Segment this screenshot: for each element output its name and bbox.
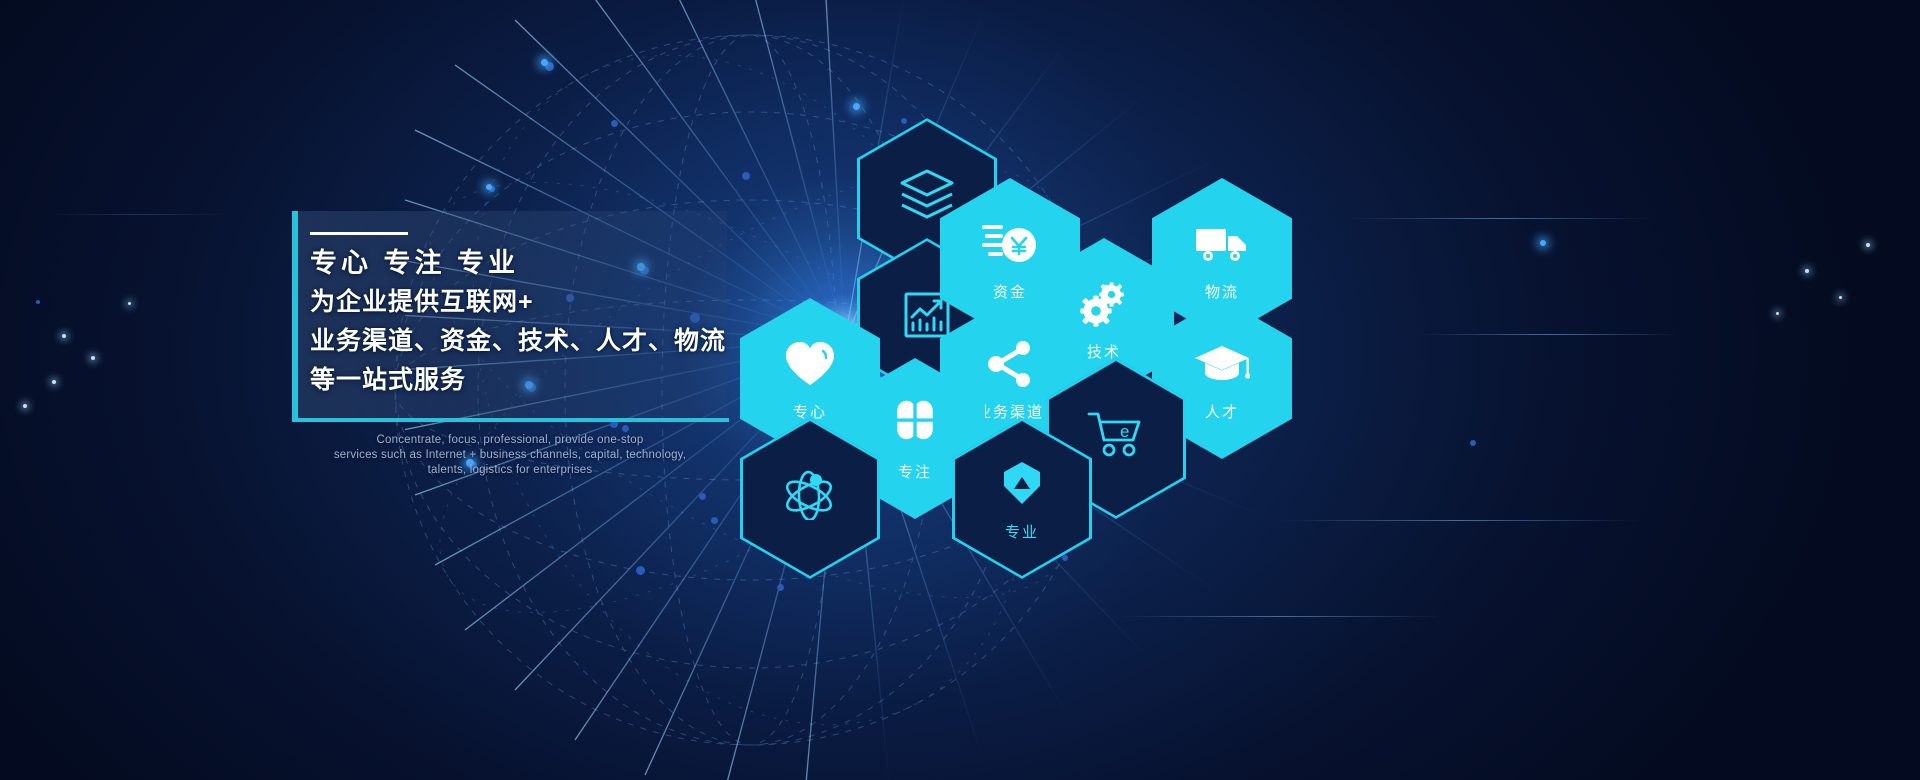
hexagon-grid: 资金	[0, 0, 1920, 780]
layers-icon	[898, 166, 956, 222]
diamond-icon	[1000, 456, 1044, 512]
atom-icon	[782, 466, 838, 522]
gears-icon	[1078, 276, 1130, 332]
hexagon-label: 人才	[1205, 401, 1239, 422]
svg-text:e: e	[1120, 422, 1129, 441]
hexagon-label: 业务渠道	[976, 401, 1044, 422]
truck-icon	[1195, 216, 1249, 272]
heart-icon	[783, 336, 837, 392]
hero-banner: 专心 专注 专业 为企业提供互联网+ 业务渠道、资金、技术、人才、物流 等一站式…	[0, 0, 1920, 780]
share-nodes-icon	[985, 336, 1035, 392]
yen-coin-icon	[982, 216, 1038, 272]
shopping-cart-e-icon: e	[1087, 406, 1145, 462]
hexagon-label: 专注	[898, 461, 932, 482]
graduation-cap-icon	[1194, 336, 1250, 392]
clover-icon	[889, 396, 941, 452]
hexagon-label: 专业	[1005, 521, 1039, 542]
